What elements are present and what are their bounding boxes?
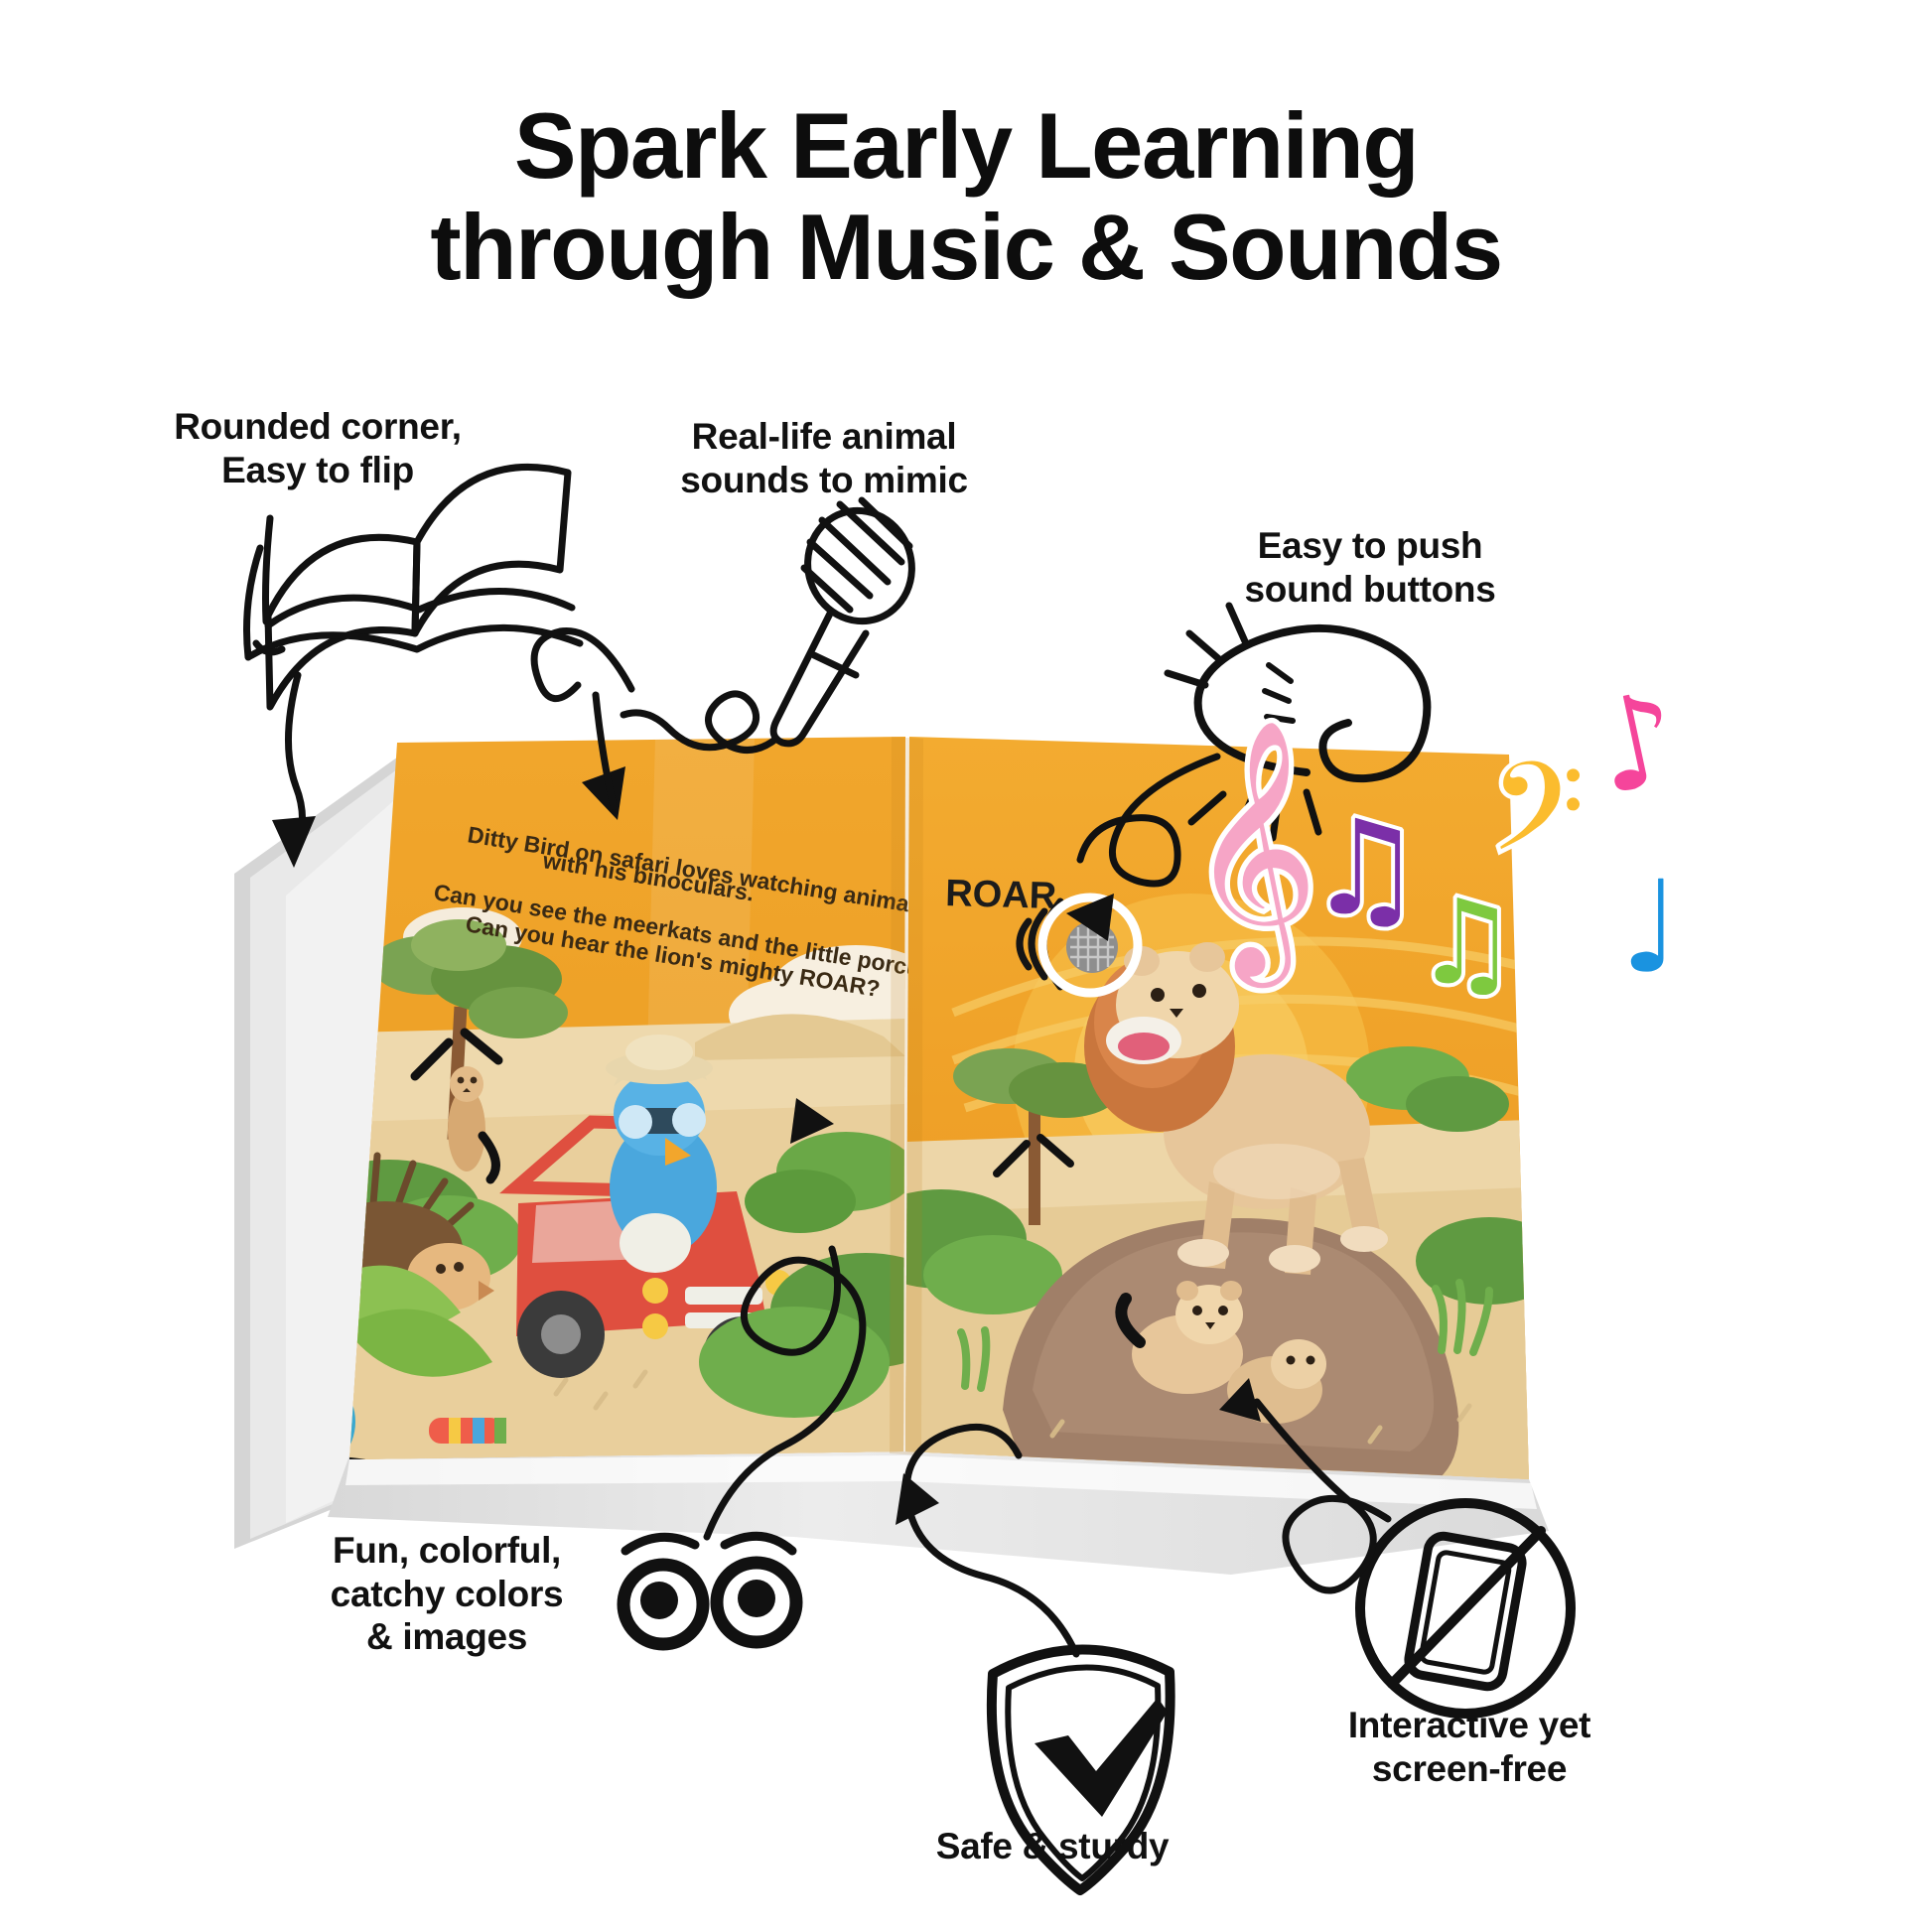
ditty-bird-character [606,1035,717,1273]
acacia-tree-right [953,1048,1120,1225]
callout-safe-sturdy: Safe & sturdy [884,1825,1221,1868]
infographic-page: Spark Early Learning through Music & Sou… [0,0,1932,1932]
page-title-line-2: through Music & Sounds [0,197,1932,298]
callout-rounded-corner: Rounded corner, Easy to flip [139,405,496,491]
svg-text:♫: ♫ [1307,792,1424,945]
callout-fun-colorful: Fun, colorful, catchy colors & images [298,1529,596,1659]
page-title-line-1: Spark Early Learning [0,95,1932,197]
roar-label: ROAR [945,873,1057,917]
callout-screen-free: Interactive yet screen-free [1301,1704,1638,1790]
speaker-grille-icon [1066,921,1118,973]
book-right-page: ROAR [856,737,1563,1485]
svg-text:𝄞: 𝄞 [1187,717,1319,988]
page-title: Spark Early Learning through Music & Sou… [0,95,1932,297]
arrow-fun-colorful [707,1098,863,1537]
svg-text:♫: ♫ [1414,874,1519,1011]
acacia-tree-left [371,919,568,1140]
roar-sound-button-group[interactable]: ROAR [945,873,1138,993]
arrow-real-life-sounds [534,630,631,820]
svg-text:♩: ♩ [1620,854,1680,1002]
sound-button-ring [1042,897,1138,993]
open-book-icon [247,467,581,707]
note-pink-eighth-icon: ♪ [1582,663,1692,825]
pointing-hand-icon [1168,606,1427,838]
meerkat [448,1066,495,1179]
porcupine [308,1156,494,1311]
arrow-screen-free [1219,1378,1388,1590]
svg-text:𝄢: 𝄢 [1489,737,1585,909]
clef-bass-yellow-icon: 𝄢 [1489,737,1585,909]
story-line-1: Ditty Bird on safari loves watching anim… [466,821,929,919]
callout-easy-push: Easy to push sound buttons [1191,524,1549,611]
svg-text:♪: ♪ [1582,663,1692,825]
book-left-page: Ditty Bird on safari loves watching anim… [263,737,983,1473]
clef-treble-pink-icon: 𝄞 [1187,717,1319,988]
book-spine-fold [890,737,923,1455]
sound-waves-icon [1020,901,1060,987]
arrow-safe-sturdy [896,1427,1076,1654]
book-page-stack [234,755,1549,1575]
arrow-rounded-corner [272,675,316,868]
note-purple-beamed-icon: ♫ [1307,792,1424,945]
eyes-icon [623,1536,796,1644]
callout-real-life-sounds: Real-life animal sounds to mimic [635,415,1013,501]
no-phone-icon [1360,1503,1571,1714]
note-green-beamed-icon: ♫ [1414,874,1519,1011]
arrow-easy-push [1066,757,1217,941]
note-blue-quarter-icon: ♩ [1620,854,1680,1002]
lion-cubs [1121,1281,1326,1424]
story-line-4: Can you hear the lion's mighty ROAR? [464,910,882,1002]
story-line-3: Can you see the meerkats and the little … [432,879,982,991]
left-page-story-text: Ditty Bird on safari loves watching anim… [432,821,982,1002]
striped-worm [429,1418,506,1444]
lion-character [1084,942,1388,1275]
story-line-2: with his binoculars. [540,847,756,905]
safari-jeep [516,1122,791,1396]
microphone-icon [623,497,926,751]
